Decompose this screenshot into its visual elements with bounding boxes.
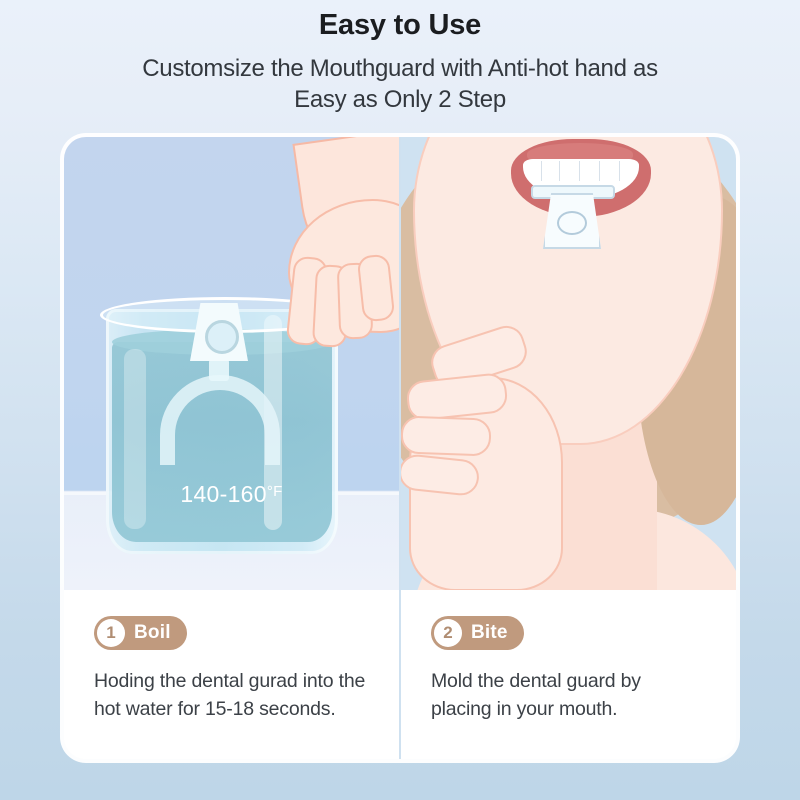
hand-inserting-mouthguard-icon <box>401 317 601 590</box>
step-2-text: 2 Bite Mold the dental guard by placing … <box>401 590 736 759</box>
page-title: Easy to Use <box>0 8 800 43</box>
step-panel-bite: 2 Bite Mold the dental guard by placing … <box>401 137 736 759</box>
temperature-label: 140-160°F <box>64 481 399 508</box>
temperature-value: 140-160 <box>180 481 267 507</box>
hand-holding-mouthguard-icon <box>184 137 399 382</box>
step-1-text: 1 Boil Hoding the dental gurad into the … <box>64 590 399 759</box>
step-badge-2: 2 Bite <box>431 616 524 650</box>
header: Easy to Use Customsize the Mouthguard wi… <box>0 0 800 115</box>
page-subtitle: Customsize the Mouthguard with Anti-hot … <box>120 53 680 115</box>
kitchen-scene: 140-160°F <box>64 137 399 590</box>
face-scene <box>401 137 736 590</box>
step-label: Boil <box>134 622 171 644</box>
temperature-unit: °F <box>267 483 283 500</box>
step-2-illustration <box>401 137 736 590</box>
step-badge-1: 1 Boil <box>94 616 187 650</box>
steps-card: 140-160°F 1 Boil Hoding the dental gurad… <box>64 137 736 759</box>
mouthguard-handle-hole <box>557 211 587 235</box>
step-panel-boil: 140-160°F 1 Boil Hoding the dental gurad… <box>64 137 401 759</box>
finger <box>401 415 492 456</box>
step-number: 2 <box>434 619 462 647</box>
step-description: Mold the dental guard by placing in your… <box>431 668 706 723</box>
step-1-illustration: 140-160°F <box>64 137 399 590</box>
step-number: 1 <box>97 619 125 647</box>
step-label: Bite <box>471 622 508 644</box>
step-description: Hoding the dental gurad into the hot wat… <box>94 668 369 723</box>
